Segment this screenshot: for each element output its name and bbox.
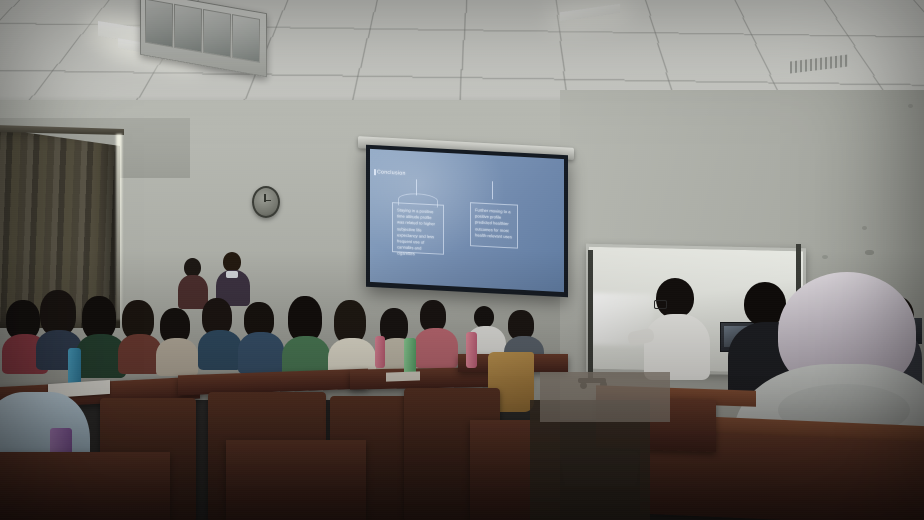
papers-on-desk: [386, 371, 420, 381]
classroom-photo: Conclusion Staying in a positive time at…: [0, 0, 924, 520]
student-head: [656, 278, 694, 318]
whiteboard-leg: [588, 250, 593, 380]
thermos-bottle-pink: [466, 332, 477, 368]
slide-title-accent: [374, 169, 376, 175]
sign-hook-icon: [492, 181, 493, 199]
glasses-icon: [654, 300, 667, 309]
curtain-edge-highlight: [116, 134, 122, 320]
wall-clock-icon: [252, 186, 280, 218]
slide-panel-right: Further moving to a positive profile pre…: [470, 202, 518, 249]
wall-mark: [908, 104, 913, 108]
wall-mark: [862, 226, 867, 230]
wall-mark: [865, 250, 874, 255]
desk-row: [0, 452, 170, 520]
floor: [540, 372, 670, 422]
slide-panel-left-text: Staying in a positive time attitude prof…: [397, 207, 439, 259]
presenter-body: [178, 275, 208, 309]
slide-panel-right-text: Further moving to a positive profile pre…: [475, 207, 513, 240]
presenter-head: [223, 252, 241, 272]
projection-screen: Conclusion Staying in a positive time at…: [366, 145, 568, 298]
student-body: [644, 314, 710, 380]
presentation-slide: Conclusion Staying in a positive time at…: [370, 149, 564, 292]
slide-panel-left: Staying in a positive time attitude prof…: [392, 202, 444, 255]
desk-row: [226, 440, 366, 520]
presenter-collar: [226, 271, 238, 278]
thermos-bottle-pink: [375, 336, 385, 368]
thermos-bottle-green: [404, 338, 416, 376]
wall-mark: [822, 255, 828, 259]
